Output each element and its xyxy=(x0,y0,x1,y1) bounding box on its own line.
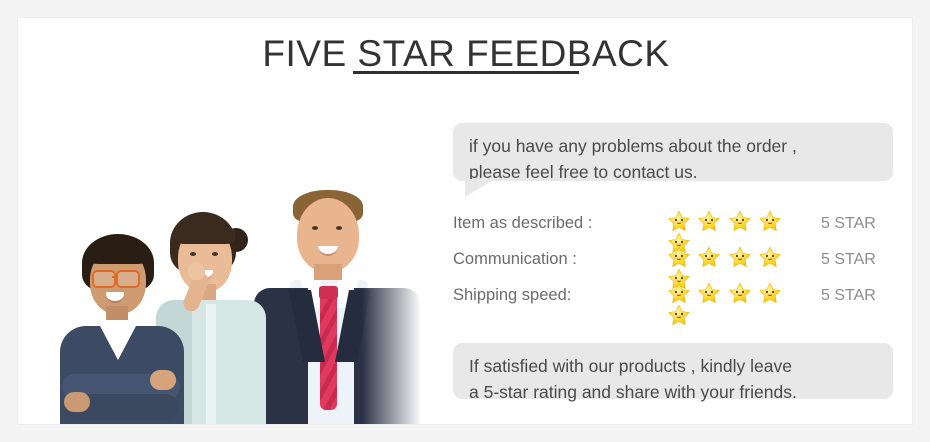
star-icon xyxy=(668,304,690,326)
glasses-left-lens-icon xyxy=(92,270,116,288)
leave-rating-line-1: If satisfied with our products , kindly … xyxy=(469,353,877,379)
star-icon xyxy=(729,282,751,304)
leave-rating-line-2: a 5-star rating and share with your frie… xyxy=(469,379,877,405)
star-icon xyxy=(729,246,751,268)
rating-value: 5 STAR xyxy=(821,215,876,233)
contact-message-line-1: if you have any problems about the order… xyxy=(469,133,877,159)
person-woman-with-glasses xyxy=(54,234,224,425)
man-head xyxy=(297,198,359,272)
photo-fade-overlay xyxy=(362,168,432,425)
woman-left-hand-upper xyxy=(150,370,176,390)
title-underline-divider xyxy=(353,71,579,74)
rating-stars xyxy=(668,246,800,274)
glasses-right-lens-icon xyxy=(116,270,140,288)
rating-list: Item as described : xyxy=(453,208,898,316)
speech-bubble-tail xyxy=(465,179,495,197)
woman-left-hand-lower xyxy=(64,392,90,412)
leave-rating-message-bubble: If satisfied with our products , kindly … xyxy=(453,343,893,399)
glasses-bridge xyxy=(112,276,118,278)
team-photo xyxy=(32,168,432,425)
banner-card: FIVE STAR FEEDBACK xyxy=(17,17,913,425)
woman-left-fringe xyxy=(86,242,150,264)
rating-value: 5 STAR xyxy=(821,251,876,269)
man-left-eye xyxy=(312,226,318,230)
star-icon xyxy=(668,282,690,304)
rating-label: Communication : xyxy=(453,250,577,269)
rating-stars xyxy=(668,282,800,310)
star-icon xyxy=(759,246,781,268)
page-title: FIVE STAR FEEDBACK xyxy=(262,34,669,75)
star-icon xyxy=(668,210,690,232)
rating-label: Shipping speed: xyxy=(453,286,571,305)
five-star-feedback-banner: FIVE STAR FEEDBACK xyxy=(0,0,930,442)
star-icon xyxy=(759,282,781,304)
rating-row: Communication : xyxy=(453,244,898,280)
rating-row: Shipping speed: xyxy=(453,280,898,316)
rating-value: 5 STAR xyxy=(821,287,876,305)
man-necktie-knot xyxy=(319,286,338,299)
star-icon xyxy=(698,282,720,304)
star-icon xyxy=(729,210,751,232)
star-icon xyxy=(698,210,720,232)
contact-message-line-2: please feel free to contact us. xyxy=(469,159,877,185)
rating-label: Item as described : xyxy=(453,214,592,233)
star-icon xyxy=(698,246,720,268)
rating-row: Item as described : xyxy=(453,208,898,244)
man-right-eye xyxy=(336,226,342,230)
page-title-container: FIVE STAR FEEDBACK xyxy=(18,34,913,75)
star-icon xyxy=(759,210,781,232)
star-icon xyxy=(668,246,690,268)
contact-message-bubble: if you have any problems about the order… xyxy=(453,123,893,181)
rating-stars xyxy=(668,210,800,238)
